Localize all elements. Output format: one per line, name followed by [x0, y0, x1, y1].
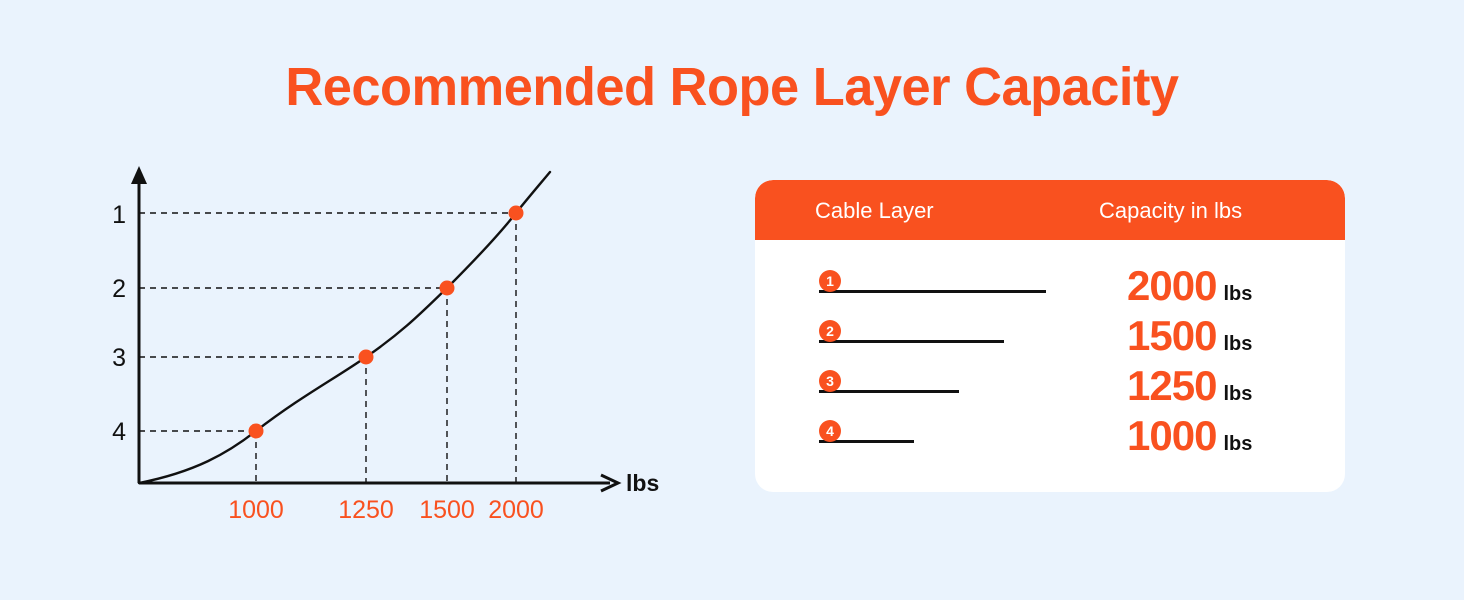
data-point-layer-3 — [359, 350, 374, 365]
layer-badge: 3 — [819, 370, 841, 392]
capacity-cell: 1250lbs — [1127, 362, 1252, 412]
layer-badge: 4 — [819, 420, 841, 442]
y-tick-label-4: 4 — [96, 418, 126, 446]
capacity-table-card: Cable Layer Capacity in lbs 1 2000lbs 2 — [755, 180, 1345, 492]
table-row: 3 1250lbs — [755, 362, 1345, 412]
table-body: 1 2000lbs 2 1500lbs 3 — [755, 240, 1345, 492]
capacity-value: 1250 — [1127, 362, 1216, 409]
rope-layer-capacity-chart: 1 2 3 4 1000 1250 1500 2000 lbs — [0, 150, 720, 550]
capacity-cell: 1500lbs — [1127, 312, 1252, 362]
vertical-guides — [256, 213, 516, 483]
y-tick-label-1: 1 — [96, 201, 126, 229]
data-point-layer-2 — [440, 281, 455, 296]
layer-bar — [819, 390, 959, 393]
layer-badge: 2 — [819, 320, 841, 342]
capacity-unit: lbs — [1223, 283, 1252, 305]
table-row: 2 1500lbs — [755, 312, 1345, 362]
data-points — [249, 206, 524, 439]
horizontal-guides — [139, 213, 516, 431]
infographic-root: Recommended Rope Layer Capacity — [0, 0, 1464, 600]
table-row: 4 1000lbs — [755, 412, 1345, 462]
capacity-cell: 1000lbs — [1127, 412, 1252, 462]
capacity-curve — [139, 172, 550, 483]
x-axis-unit-label: lbs — [626, 470, 659, 496]
table-header: Cable Layer Capacity in lbs — [755, 180, 1345, 240]
column-header-cable-layer: Cable Layer — [815, 198, 934, 224]
page-title: Recommended Rope Layer Capacity — [22, 55, 1442, 119]
y-tick-label-3: 3 — [96, 344, 126, 372]
layer-bar — [819, 290, 1046, 293]
x-axis — [139, 475, 618, 491]
data-point-layer-4 — [249, 424, 264, 439]
capacity-unit: lbs — [1223, 433, 1252, 455]
column-header-capacity: Capacity in lbs — [1099, 198, 1242, 224]
y-tick-label-2: 2 — [96, 275, 126, 303]
table-row: 1 2000lbs — [755, 262, 1345, 312]
x-tick-label-1000: 1000 — [201, 496, 311, 524]
capacity-value: 1000 — [1127, 412, 1216, 459]
capacity-unit: lbs — [1223, 333, 1252, 355]
data-point-layer-1 — [509, 206, 524, 221]
layer-badge: 1 — [819, 270, 841, 292]
capacity-cell: 2000lbs — [1127, 262, 1252, 312]
x-tick-label-2000: 2000 — [461, 496, 571, 524]
capacity-unit: lbs — [1223, 383, 1252, 405]
capacity-value: 2000 — [1127, 262, 1216, 309]
layer-bar — [819, 340, 1004, 343]
capacity-value: 1500 — [1127, 312, 1216, 359]
